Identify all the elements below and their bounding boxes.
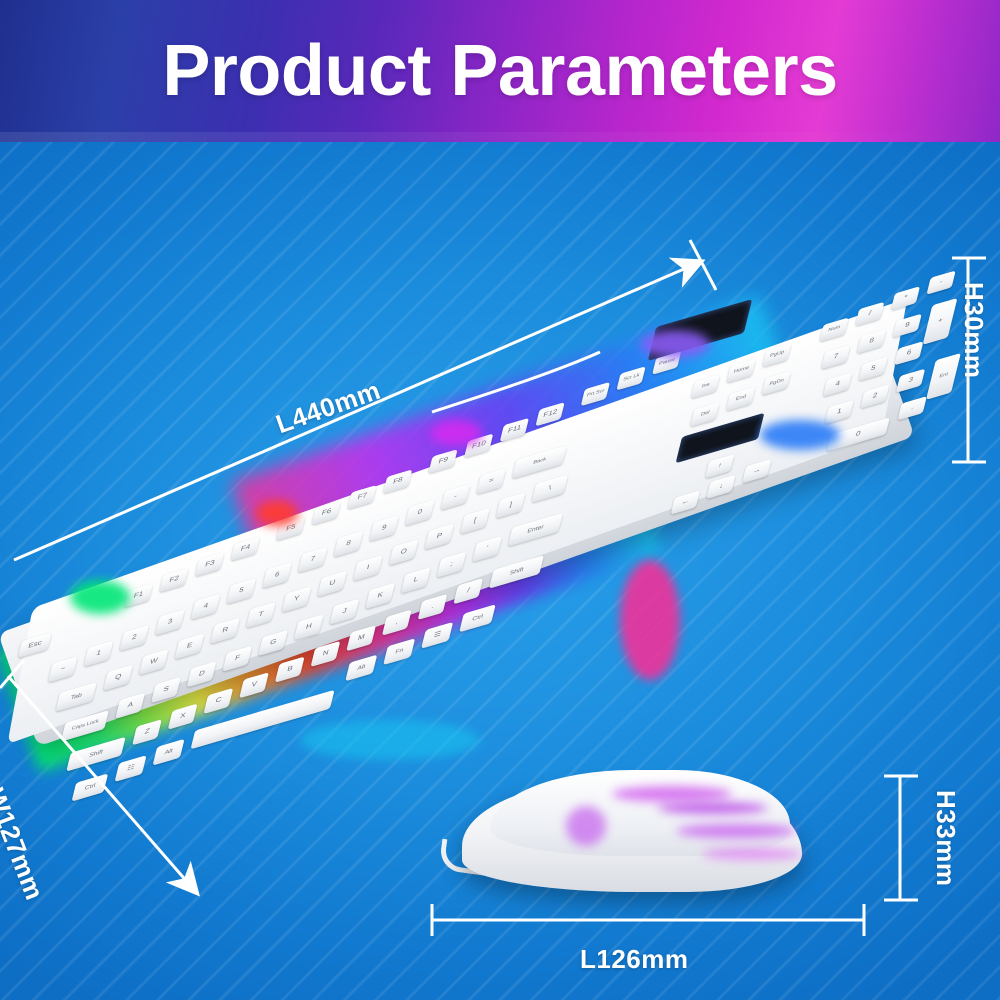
dimension-label-mouse-height: H33mm bbox=[930, 790, 961, 886]
mouse-illustration bbox=[462, 762, 802, 902]
mouse-rgb-glow bbox=[676, 824, 796, 838]
mouse-rgb-glow bbox=[612, 786, 732, 802]
rgb-glow bbox=[430, 420, 482, 446]
rgb-glow bbox=[300, 720, 480, 760]
rgb-glow bbox=[256, 500, 298, 526]
rgb-glow bbox=[620, 560, 680, 680]
mouse-rgb-glow bbox=[702, 848, 802, 860]
dimension-label-keyboard-height: H30mm bbox=[958, 282, 989, 378]
rgb-glow bbox=[640, 330, 710, 358]
mouse-rgb-glow bbox=[566, 806, 606, 846]
mouse-top-shell bbox=[490, 770, 790, 856]
rgb-glow bbox=[760, 420, 840, 450]
mouse-rgb-glow bbox=[658, 802, 768, 814]
product-parameters-infographic: Product Parameters Esc F1 F2 F3 F4 F5 F6… bbox=[0, 0, 1000, 1000]
dimension-label-mouse-length: L126mm bbox=[580, 944, 689, 975]
rgb-glow bbox=[70, 580, 130, 614]
